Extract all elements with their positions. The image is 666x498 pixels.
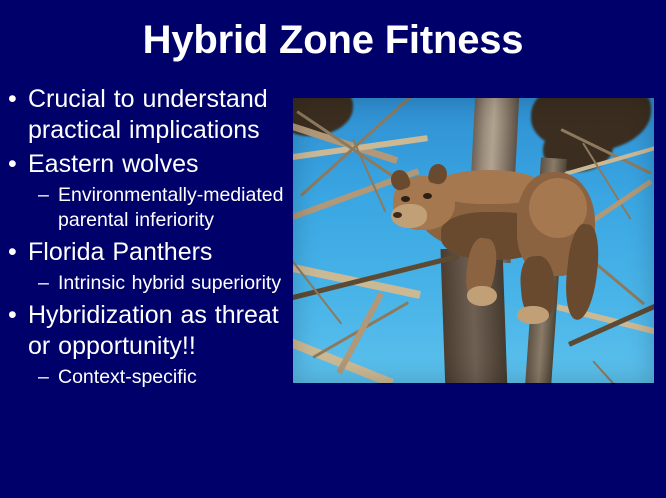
list-item: – Context-specific <box>0 365 292 390</box>
bullet-dot-icon: • <box>8 84 17 115</box>
list-item-label: Context-specific <box>58 365 292 390</box>
cougar-eye-left <box>401 196 410 202</box>
list-item-label: Intrinsic hybrid superiority <box>58 271 292 296</box>
bullet-list: • Crucial to understand practical implic… <box>0 84 292 391</box>
cougar-in-tree-photo <box>293 98 654 383</box>
page-title: Hybrid Zone Fitness <box>0 17 666 63</box>
list-item-label: Environmentally-mediated parental inferi… <box>58 183 292 233</box>
list-item-label: Hybridization as threat or opportunity!! <box>28 300 292 362</box>
list-item: • Crucial to understand practical implic… <box>0 84 292 146</box>
list-item: • Hybridization as threat or opportunity… <box>0 300 292 362</box>
list-item-label: Eastern wolves <box>28 149 292 180</box>
bullet-dash-icon: – <box>38 365 49 390</box>
cougar-eye-right <box>423 193 432 199</box>
bullet-dash-icon: – <box>38 271 49 296</box>
cougar-nose <box>393 212 402 218</box>
bullet-dot-icon: • <box>8 237 17 268</box>
bullet-dot-icon: • <box>8 300 17 331</box>
cougar-figure <box>371 160 601 335</box>
bullet-dash-icon: – <box>38 183 49 208</box>
bullet-dot-icon: • <box>8 149 17 180</box>
list-item-label: Crucial to understand practical implicat… <box>28 84 292 146</box>
list-item: • Eastern wolves <box>0 149 292 180</box>
list-item: – Intrinsic hybrid superiority <box>0 271 292 296</box>
list-item-label: Florida Panthers <box>28 237 292 268</box>
cougar-rear-paw <box>517 306 549 324</box>
cougar-paw <box>467 286 497 306</box>
presentation-slide: Hybrid Zone Fitness • Crucial to underst… <box>0 0 666 498</box>
list-item: – Environmentally-mediated parental infe… <box>0 183 292 233</box>
list-item: • Florida Panthers <box>0 237 292 268</box>
